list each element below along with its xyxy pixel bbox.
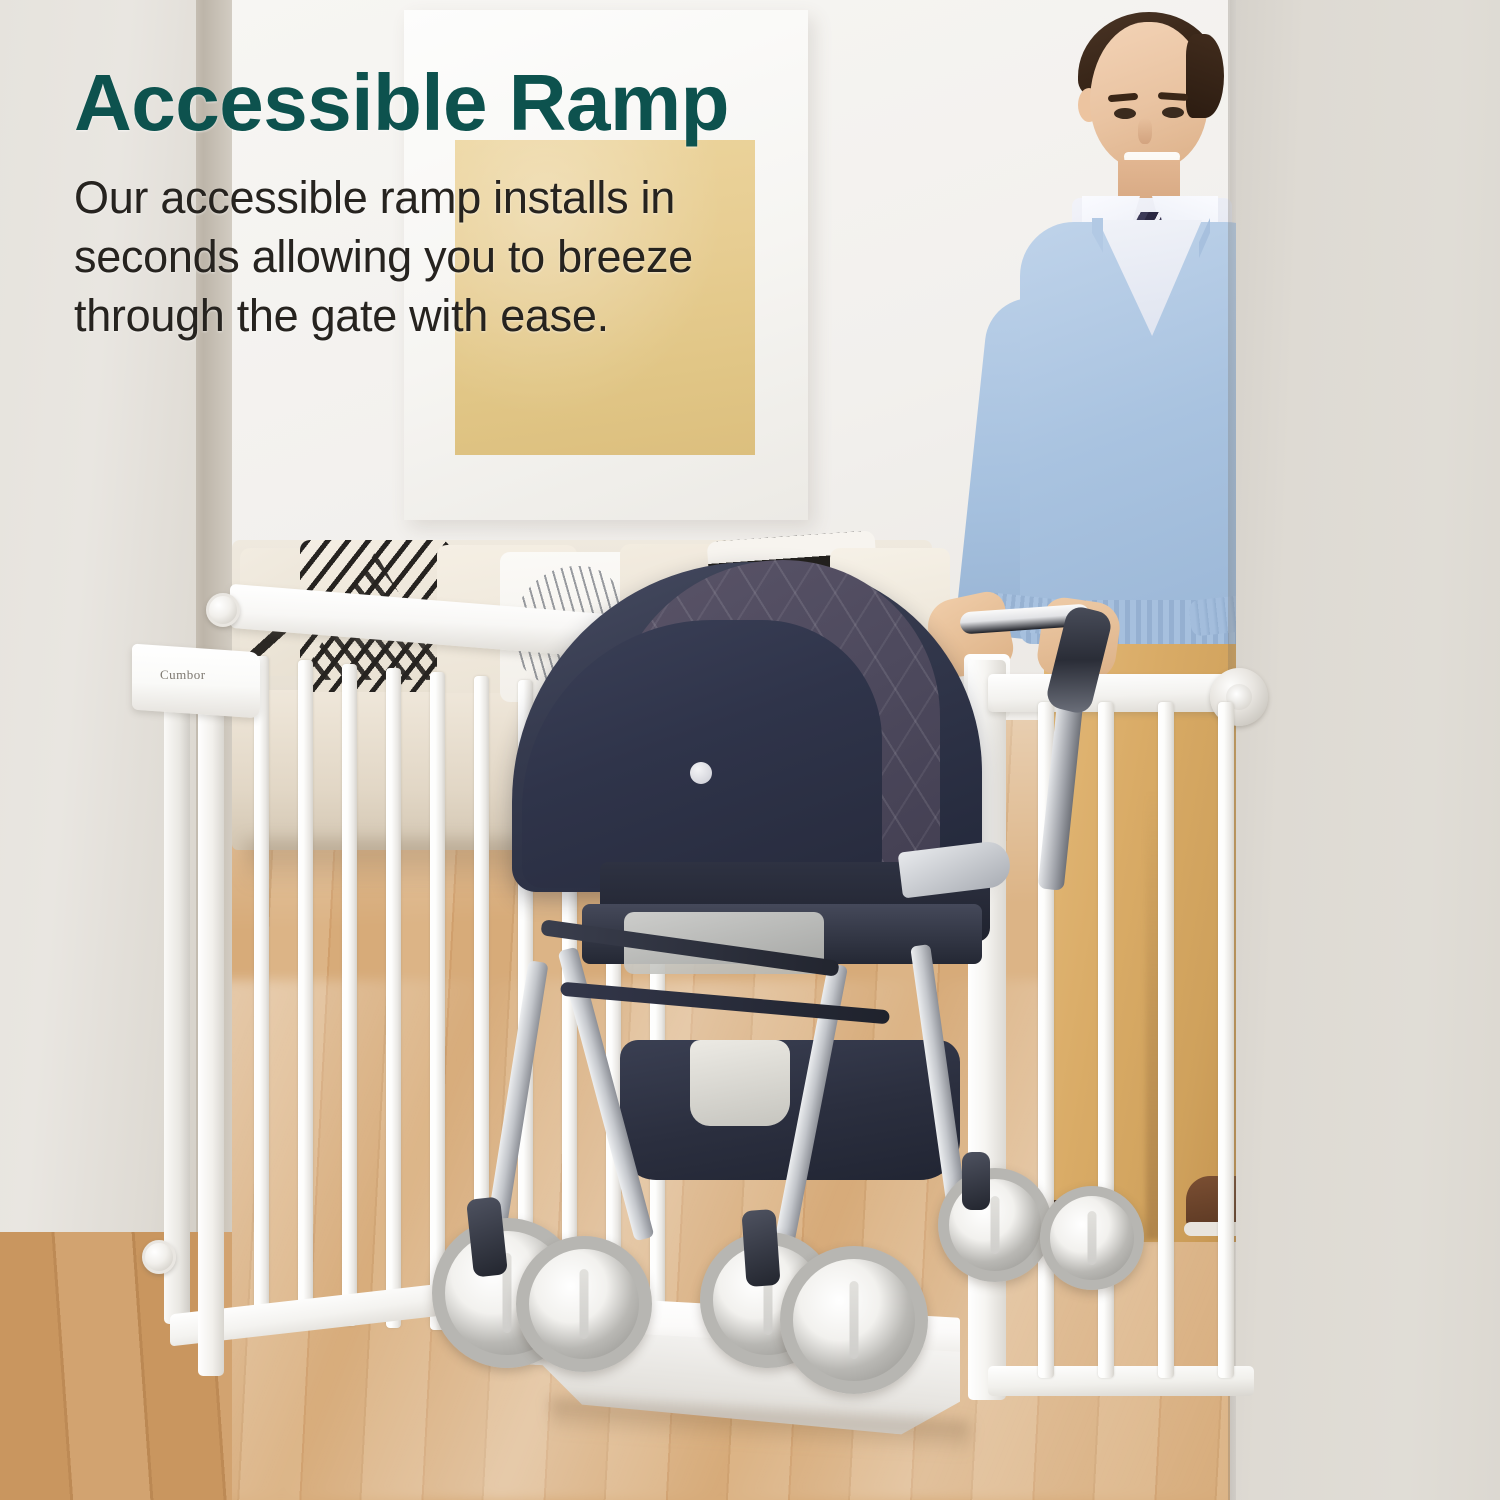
wall-mount-spindle-top[interactable] [206,593,240,627]
body-line: seconds allowing you to breeze [74,227,894,286]
gate-bar [1218,702,1234,1378]
body-copy: Our accessible ramp installs in seconds … [74,168,894,346]
stroller-caster-rear [962,1152,990,1210]
brand-plate: Cumbor [132,644,260,719]
product-marketing-image: Cumbor [0,0,1500,1500]
stroller-wheel [1040,1186,1144,1290]
gate-bar [1158,702,1174,1378]
person-nose [1138,118,1152,144]
body-line: Our accessible ramp installs in [74,168,894,227]
gate-bar [430,672,445,1330]
stroller-wheel [516,1236,652,1372]
stroller-wheel [938,1168,1052,1282]
gate-right-bottom-rail [988,1366,1254,1396]
person-eye-right [1162,107,1184,118]
stroller-caster-mid [741,1209,780,1287]
wall-mount-spindle-bottom[interactable] [142,1240,176,1274]
body-line: through the gate with ease. [74,286,894,345]
gate-bar [386,668,401,1328]
stroller-basket-contents [690,1040,790,1126]
gate-bar [254,656,269,1320]
person-eye-left [1114,108,1136,119]
headline: Accessible Ramp [74,62,894,144]
stroller-canopy-snap [690,762,712,784]
stroller-wheel [780,1246,928,1394]
gate-front-post [198,686,224,1376]
brand-label: Cumbor [160,667,206,683]
gate-bar [342,664,357,1326]
gate-right-panel[interactable] [960,650,1260,1410]
doorway-wall-right [1236,0,1500,1500]
gate-bar [298,660,313,1324]
marketing-copy-block: Accessible Ramp Our accessible ramp inst… [74,62,894,346]
gate-hinge-post [164,664,190,1324]
person-hair-side [1186,34,1224,118]
